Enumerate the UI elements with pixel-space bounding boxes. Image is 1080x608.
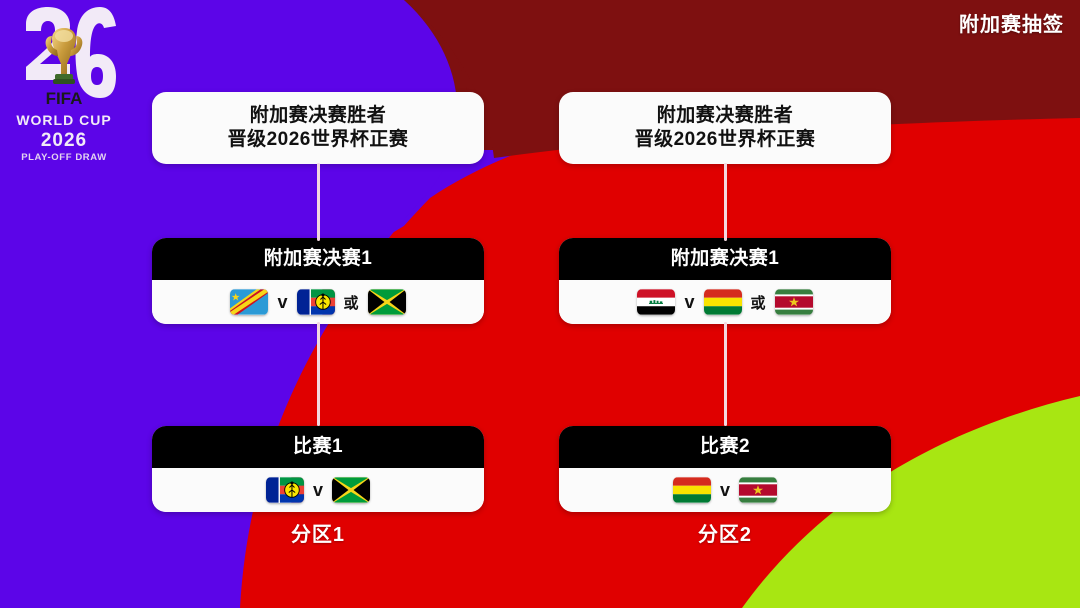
zone-label-2: 分区2	[559, 518, 891, 547]
vs-label-zone1-final: v	[277, 292, 287, 313]
logo-worldcup-text: WORLD CUP	[16, 112, 111, 128]
logo-playoffdraw-text: PLAY-OFF DRAW	[21, 152, 107, 163]
match-title-zone2-semi: 比赛2	[559, 426, 891, 468]
flag-suriname	[775, 289, 813, 315]
match-title-zone1-semi: 比赛1	[152, 426, 484, 468]
zone-label-1: 分区1	[152, 518, 484, 547]
match-teams-zone2-final: v 或	[559, 280, 891, 324]
winner-card-zone1: 附加赛决赛胜者 晋级2026世界杯正赛	[152, 92, 484, 164]
logo-year-text: 2026	[41, 130, 87, 151]
fifa-world-cup-2026-logo: FIFA WORLD CUP 2026 PLAY-OFF DRAW	[12, 6, 116, 164]
winner-line1-zone1: 附加赛决赛胜者	[228, 104, 409, 128]
match-card-zone1-semi: 比赛1	[152, 426, 484, 512]
page-title: 附加赛抽签	[959, 8, 1064, 37]
flag-new-caledonia	[266, 477, 304, 503]
winner-card-zone2: 附加赛决赛胜者 晋级2026世界杯正赛	[559, 92, 891, 164]
vs-label-zone2-semi: v	[720, 480, 730, 501]
connector-zone2-semi-to-final	[724, 322, 727, 426]
match-card-zone2-semi: 比赛2 v	[559, 426, 891, 512]
flag-new-caledonia	[297, 289, 335, 315]
match-card-zone2-final: 附加赛决赛1 v	[559, 238, 891, 324]
flag-bolivia	[704, 289, 742, 315]
or-label-zone2-final: 或	[751, 292, 766, 313]
match-teams-zone2-semi: v	[559, 468, 891, 512]
flag-iraq	[637, 289, 675, 315]
bracket-container: 附加赛决赛胜者 晋级2026世界杯正赛 附加赛决赛1 v	[0, 0, 1080, 608]
match-title-zone1-final: 附加赛决赛1	[152, 238, 484, 280]
winner-line2-zone2: 晋级2026世界杯正赛	[635, 128, 816, 152]
playoff-draw-graphic: FIFA WORLD CUP 2026 PLAY-OFF DRAW 附加赛抽签 …	[0, 0, 1080, 608]
connector-zone2-final-to-winner	[724, 163, 727, 241]
match-teams-zone1-final: v	[152, 280, 484, 324]
match-teams-zone1-semi: v	[152, 468, 484, 512]
flag-jamaica	[332, 477, 370, 503]
or-label-zone1-final: 或	[344, 292, 359, 313]
match-title-zone2-final: 附加赛决赛1	[559, 238, 891, 280]
flag-bolivia	[673, 477, 711, 503]
flag-jamaica	[368, 289, 406, 315]
vs-label-zone1-semi: v	[313, 480, 323, 501]
winner-line1-zone2: 附加赛决赛胜者	[635, 104, 816, 128]
vs-label-zone2-final: v	[684, 292, 694, 313]
winner-line2-zone1: 晋级2026世界杯正赛	[228, 128, 409, 152]
connector-zone1-final-to-winner	[317, 163, 320, 241]
logo-fifa-text: FIFA	[46, 89, 83, 108]
flag-dr-congo	[230, 289, 268, 315]
match-card-zone1-final: 附加赛决赛1 v	[152, 238, 484, 324]
flag-suriname	[739, 477, 777, 503]
connector-zone1-semi-to-final	[317, 322, 320, 426]
